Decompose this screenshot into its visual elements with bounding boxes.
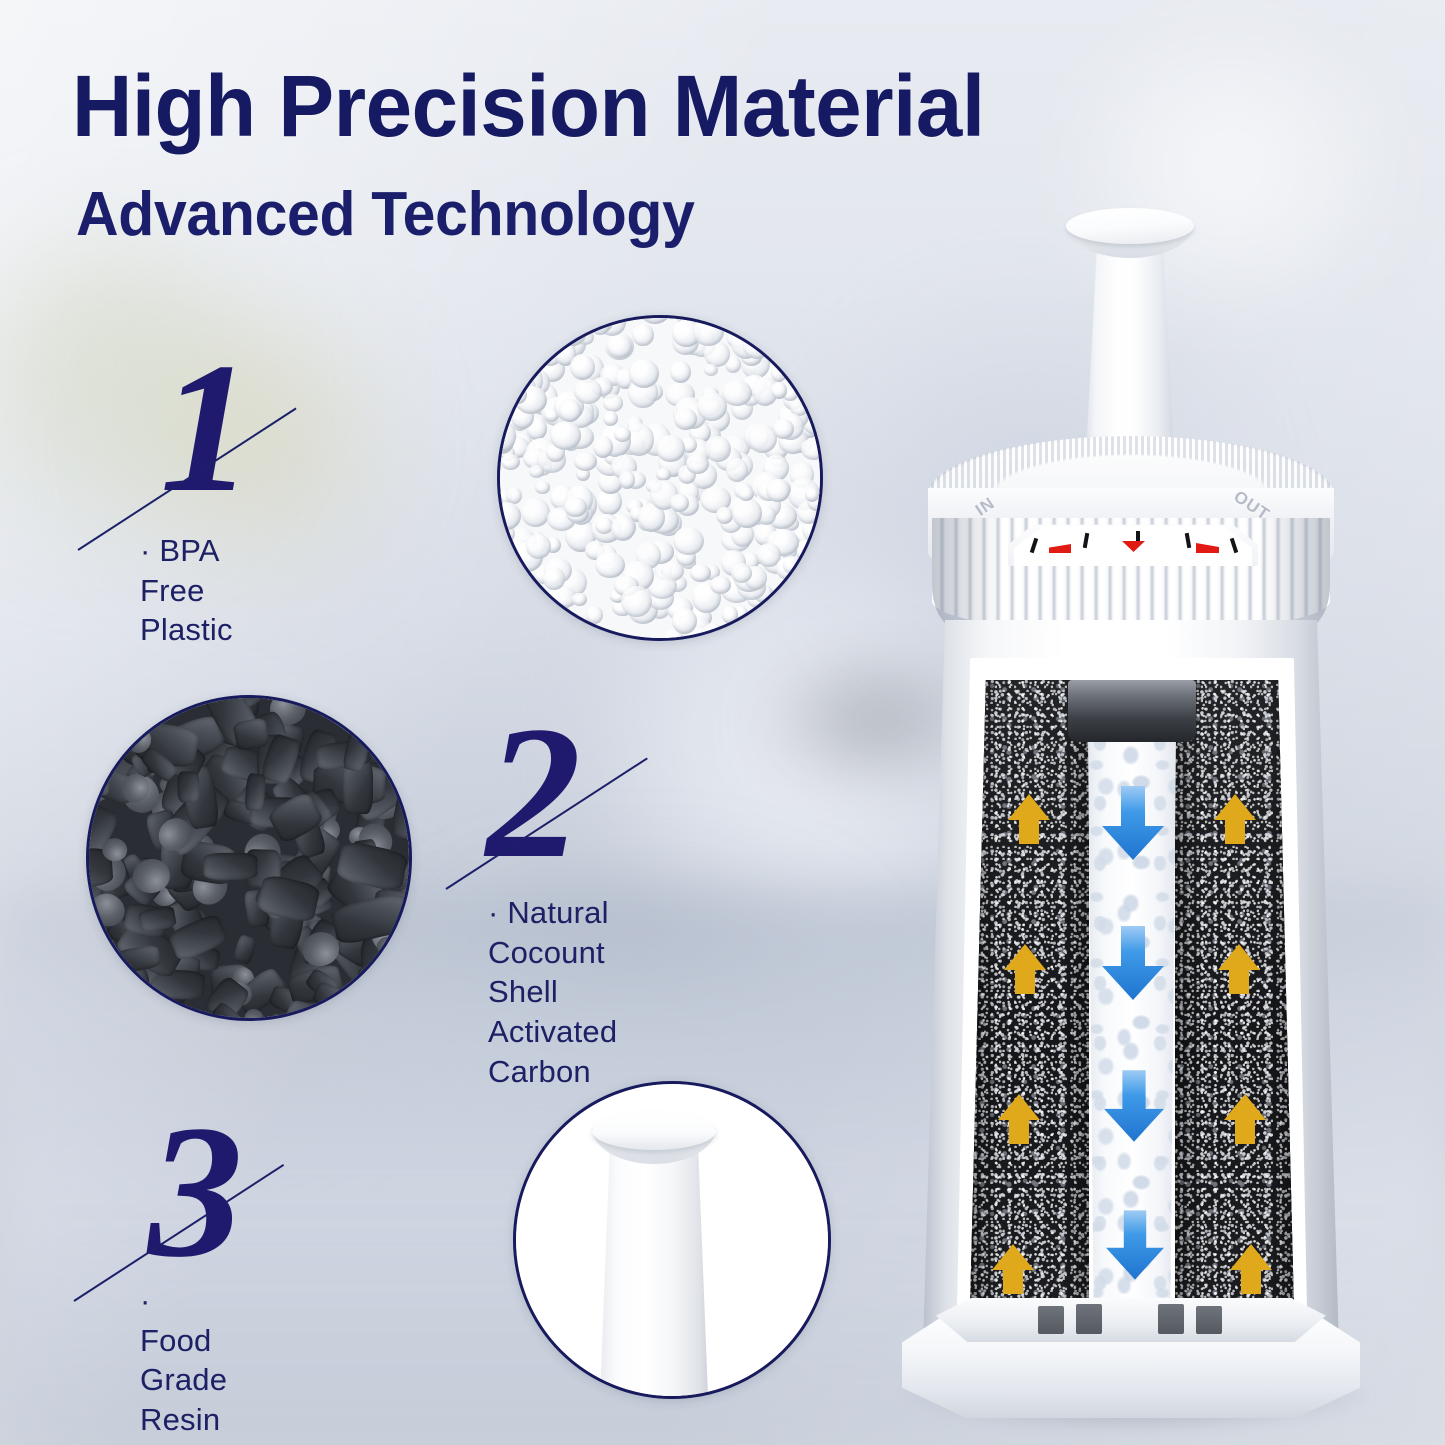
resin-bead bbox=[722, 380, 752, 407]
filter-base-top-lip bbox=[936, 1298, 1326, 1342]
resin-bead bbox=[639, 318, 671, 324]
resin-bead bbox=[586, 606, 604, 624]
resin-bead bbox=[716, 626, 737, 638]
resin-bead bbox=[783, 556, 800, 574]
carbon-pellet bbox=[89, 963, 114, 998]
feature-label-1: · BPA Free Plastic bbox=[140, 531, 233, 650]
arrow-up-icon bbox=[992, 1244, 1034, 1294]
resin-bead bbox=[529, 465, 543, 478]
carbon-pellet bbox=[176, 771, 199, 803]
resin-bead bbox=[570, 354, 595, 380]
carbon-flow-arrow-up-right-1 bbox=[1214, 794, 1256, 844]
arrow-up-icon bbox=[1004, 944, 1046, 994]
carbon-flow-arrow-up-left-4 bbox=[992, 1244, 1034, 1294]
resin-bead bbox=[509, 385, 527, 404]
resin-bead bbox=[574, 379, 602, 404]
food-grade-resin-stem-photo bbox=[516, 1084, 828, 1396]
base-outlet-slot-1 bbox=[1038, 1306, 1064, 1334]
carbon-pellet bbox=[89, 1015, 98, 1018]
resin-bead bbox=[704, 364, 718, 376]
feature-number-3: 3 bbox=[148, 1115, 243, 1271]
resin-bead bbox=[693, 318, 723, 346]
resin-bead bbox=[621, 586, 652, 617]
resin-bead bbox=[531, 328, 552, 345]
carbon-flow-arrow-up-right-4 bbox=[1230, 1244, 1272, 1294]
resin-bead bbox=[705, 436, 731, 461]
arrow-down-icon bbox=[1106, 1210, 1164, 1280]
carbon-flow-arrow-up-right-2 bbox=[1218, 944, 1260, 994]
resin-bead bbox=[722, 606, 739, 624]
arrow-down-icon bbox=[1102, 786, 1164, 860]
filter-cap-shade-right bbox=[1260, 518, 1330, 630]
resin-stem-body bbox=[600, 1150, 708, 1396]
resin-bead bbox=[595, 517, 613, 533]
filter-nozzle-cap-top bbox=[1066, 208, 1194, 244]
carbon-pellet bbox=[358, 966, 399, 999]
arrow-up-icon bbox=[1214, 794, 1256, 844]
resin-bead bbox=[564, 497, 587, 517]
water-flow-arrow-down-1 bbox=[1102, 786, 1164, 860]
resin-bead bbox=[559, 399, 581, 422]
page-title: High Precision Material bbox=[72, 63, 985, 150]
carbon-pellet bbox=[233, 934, 258, 965]
resin-bead bbox=[526, 534, 551, 559]
core-inlet-plug bbox=[1068, 680, 1196, 742]
carbon-flow-arrow-up-left-1 bbox=[1008, 794, 1050, 844]
feature-number-2: 2 bbox=[486, 716, 581, 872]
filter-cutaway-window bbox=[956, 658, 1308, 1360]
resin-bead bbox=[670, 494, 690, 512]
resin-bead bbox=[500, 502, 521, 530]
resin-bead bbox=[690, 564, 711, 583]
resin-bead bbox=[801, 438, 820, 460]
arrow-down-icon bbox=[1102, 926, 1164, 1000]
activated-carbon-pellets-photo bbox=[89, 698, 409, 1018]
inset-circle-food-grade-resin bbox=[513, 1081, 831, 1399]
arrow-up-icon bbox=[1230, 1244, 1272, 1294]
resin-bead bbox=[673, 527, 704, 556]
resin-bead bbox=[521, 498, 550, 527]
resin-bead bbox=[674, 408, 697, 430]
resin-bead bbox=[574, 452, 597, 471]
inset-circle-clear-resin-beads bbox=[497, 315, 823, 641]
base-outlet-slot-3 bbox=[1158, 1304, 1184, 1334]
resin-bead bbox=[798, 605, 815, 621]
base-outlet-slot-2 bbox=[1076, 1304, 1102, 1334]
resin-bead bbox=[656, 435, 685, 462]
resin-bead bbox=[535, 481, 549, 493]
feature-label-2: · Natural Cocount Shell Activated Carbon bbox=[488, 893, 617, 1091]
filter-date-dial bbox=[1008, 522, 1258, 566]
feature-number-1: 1 bbox=[160, 352, 253, 505]
carbon-pellet bbox=[203, 852, 258, 879]
carbon-pellet bbox=[377, 698, 409, 722]
arrow-up-icon bbox=[1008, 794, 1050, 844]
resin-bead bbox=[632, 324, 653, 345]
water-flow-arrow-down-4 bbox=[1106, 1210, 1164, 1280]
resin-bead bbox=[593, 436, 613, 458]
carbon-flow-arrow-up-right-3 bbox=[1224, 1094, 1266, 1144]
resin-bead bbox=[686, 454, 709, 474]
resin-bead bbox=[773, 419, 794, 438]
resin-stem-scene bbox=[516, 1084, 828, 1396]
resin-bead bbox=[511, 616, 535, 638]
base-outlet-slot-4 bbox=[1196, 1306, 1222, 1334]
resin-bead bbox=[603, 394, 623, 411]
resin-bead bbox=[607, 335, 632, 357]
arrow-up-icon bbox=[1218, 944, 1260, 994]
resin-bead bbox=[766, 479, 790, 503]
resin-bead bbox=[809, 380, 820, 406]
resin-stem-cap-top bbox=[592, 1112, 716, 1150]
feature-label-3: · Food Grade Resin bbox=[140, 1281, 227, 1440]
resin-bead bbox=[603, 411, 618, 427]
filter-cap-shade-left bbox=[932, 518, 1002, 630]
resin-bead bbox=[732, 498, 762, 529]
page-subtitle: Advanced Technology bbox=[76, 184, 695, 246]
carbon-pellet-cluster bbox=[89, 698, 409, 1018]
resin-bead bbox=[595, 552, 625, 578]
water-flow-arrow-down-3 bbox=[1104, 1070, 1164, 1142]
resin-bead bbox=[522, 591, 543, 609]
resin-bead bbox=[726, 458, 748, 481]
resin-bead bbox=[771, 382, 786, 398]
resin-bead bbox=[670, 361, 691, 383]
resin-bead bbox=[501, 454, 520, 470]
resin-bead bbox=[710, 576, 732, 594]
infographic-canvas: High Precision Material Advanced Technol… bbox=[0, 0, 1445, 1445]
clear-resin-beads-photo bbox=[500, 318, 820, 638]
resin-bead bbox=[802, 343, 820, 369]
carbon-flow-arrow-up-left-2 bbox=[1004, 944, 1046, 994]
arrow-down-icon bbox=[1104, 1070, 1164, 1142]
resin-bead bbox=[672, 608, 697, 634]
resin-bead bbox=[751, 619, 766, 635]
resin-bead bbox=[731, 563, 753, 583]
resin-bead-cluster bbox=[500, 318, 820, 638]
carbon-flow-arrow-up-left-3 bbox=[998, 1094, 1040, 1144]
carbon-pellet bbox=[124, 968, 152, 1013]
resin-bead bbox=[572, 593, 587, 607]
inset-circle-activated-carbon bbox=[86, 695, 412, 1021]
resin-bead bbox=[656, 468, 671, 480]
resin-bead bbox=[619, 471, 635, 489]
arrow-up-icon bbox=[1224, 1094, 1266, 1144]
resin-bead bbox=[543, 567, 564, 589]
resin-bead bbox=[550, 421, 581, 449]
water-filter-cartridge-cutaway: IN OUT bbox=[880, 200, 1400, 1430]
resin-bead bbox=[779, 588, 805, 609]
arrow-up-icon bbox=[998, 1094, 1040, 1144]
water-flow-arrow-down-2 bbox=[1102, 926, 1164, 1000]
resin-bead bbox=[611, 516, 635, 541]
